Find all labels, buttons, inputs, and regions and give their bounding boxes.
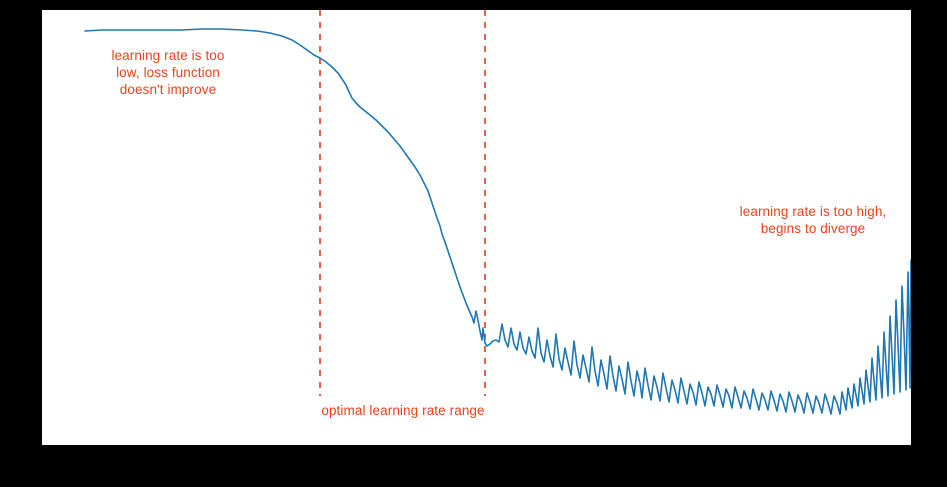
marker-lines-group xyxy=(320,10,485,396)
figure-canvas: learning rate is too low, loss function … xyxy=(0,0,947,487)
annotation-high-line-1: learning rate is too high, xyxy=(705,203,921,220)
annotation-optimal-range: optimal learning rate range xyxy=(288,402,518,419)
annotation-high-learning-rate: learning rate is too high, begins to div… xyxy=(705,203,921,237)
annotation-high-line-2: begins to diverge xyxy=(705,220,921,237)
annotation-low-learning-rate: learning rate is too low, loss function … xyxy=(47,47,289,98)
annotation-optimal-line-1: optimal learning rate range xyxy=(288,402,518,419)
annotation-low-line-3: doesn't improve xyxy=(47,81,289,98)
annotation-low-line-1: learning rate is too xyxy=(47,47,289,64)
annotation-low-line-2: low, loss function xyxy=(47,64,289,81)
